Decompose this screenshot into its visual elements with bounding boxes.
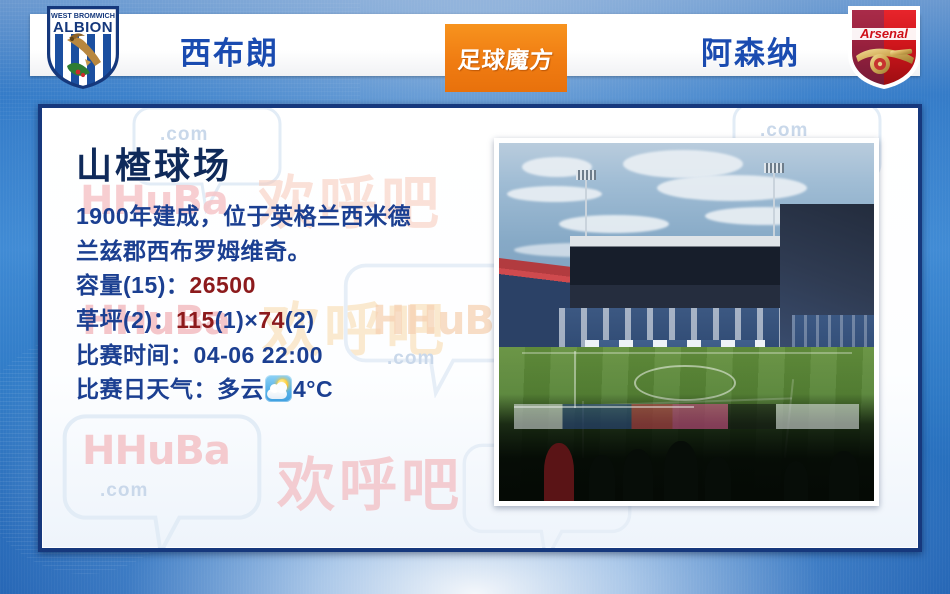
spectator-4 <box>664 441 698 501</box>
photo-main-stand <box>570 236 803 315</box>
pitch-width-value: 74 <box>258 307 285 333</box>
cloud-shape <box>267 389 287 399</box>
photo-goal-frame <box>514 406 694 408</box>
match-time-value: 04-06 22:00 <box>194 342 324 368</box>
home-team-name: 西布朗 <box>180 28 279 73</box>
floodlight-right <box>773 172 775 244</box>
photo-goal-post <box>574 351 576 408</box>
spectator-5 <box>705 457 731 501</box>
photo-goal-line <box>522 352 852 354</box>
watermark-brand-4: HHuBa <box>82 428 230 474</box>
capacity-label: 容量(15)： <box>76 272 189 298</box>
watermark-chinese-3: 欢呼吧 <box>277 438 463 522</box>
west-bromwich-albion-crest: WEST BROMWICH ALBION <box>45 4 121 90</box>
match-header-bar: 西布朗 足球魔方 阿森纳 <box>30 14 920 76</box>
cloud-4 <box>657 175 807 201</box>
match-weather-value: 多云 <box>217 376 264 402</box>
spectator-6 <box>784 461 808 501</box>
pitch-size-label: 草坪(2)： <box>76 307 176 333</box>
crest-text: Arsenal <box>859 26 908 41</box>
stadium-info-card: .com .com HHuBa 欢呼吧 HHuBa 欢呼吧 HHuBa .com… <box>38 104 922 552</box>
pitch-size-times: × <box>244 307 258 333</box>
photo-advertising-boards <box>514 404 859 429</box>
pitch-width-rank: (2) <box>285 307 315 333</box>
match-time-row: 比赛时间：04-06 22:00 <box>76 339 506 372</box>
stadium-photo <box>499 143 874 501</box>
match-time-label: 比赛时间： <box>76 342 194 368</box>
match-weather-row: 比赛日天气：多云4°C <box>76 373 506 406</box>
stadium-description-line-1: 1900年建成，位于英格兰西米德 <box>76 200 506 233</box>
cloud-3 <box>623 150 743 178</box>
crest-main-text: ALBION <box>53 19 113 36</box>
pitch-size-row: 草坪(2)：115(1)×74(2) <box>76 304 506 337</box>
match-weather-label: 比赛日天气： <box>76 376 217 402</box>
away-team-name: 阿森纳 <box>701 28 800 73</box>
watermark-domain-4: .com <box>100 480 148 502</box>
stadium-description-line-2: 兰兹郡西布罗姆维奇。 <box>76 235 506 268</box>
page-title: 山楂球场 <box>76 148 506 184</box>
capacity-row: 容量(15)：26500 <box>76 269 506 302</box>
pitch-length-rank: (1) <box>215 307 245 333</box>
partly-cloudy-icon <box>265 375 292 402</box>
screenshot-root: 西布朗 足球魔方 阿森纳 <box>0 0 950 594</box>
stadium-photo-frame <box>494 138 879 506</box>
watermark-domain-1: .com <box>160 124 208 146</box>
site-logo[interactable]: 足球魔方 <box>445 24 567 92</box>
pitch-length-value: 115 <box>176 307 215 333</box>
cloud-2 <box>507 186 602 202</box>
arsenal-crest: Arsenal <box>846 4 922 90</box>
spectator-3 <box>623 449 653 501</box>
cloud-5 <box>559 215 669 233</box>
spectator-2 <box>589 455 615 501</box>
capacity-value: 26500 <box>189 272 255 298</box>
watermark-bubble-4 <box>62 408 262 552</box>
spectator-7 <box>829 451 859 501</box>
spectator-1 <box>544 443 574 501</box>
stadium-info-column: 山楂球场 1900年建成，位于英格兰西米德 兰兹郡西布罗姆维奇。 容量(15)：… <box>76 148 506 406</box>
match-temperature: 4°C <box>293 376 333 402</box>
site-logo-text: 足球魔方 <box>457 41 555 75</box>
